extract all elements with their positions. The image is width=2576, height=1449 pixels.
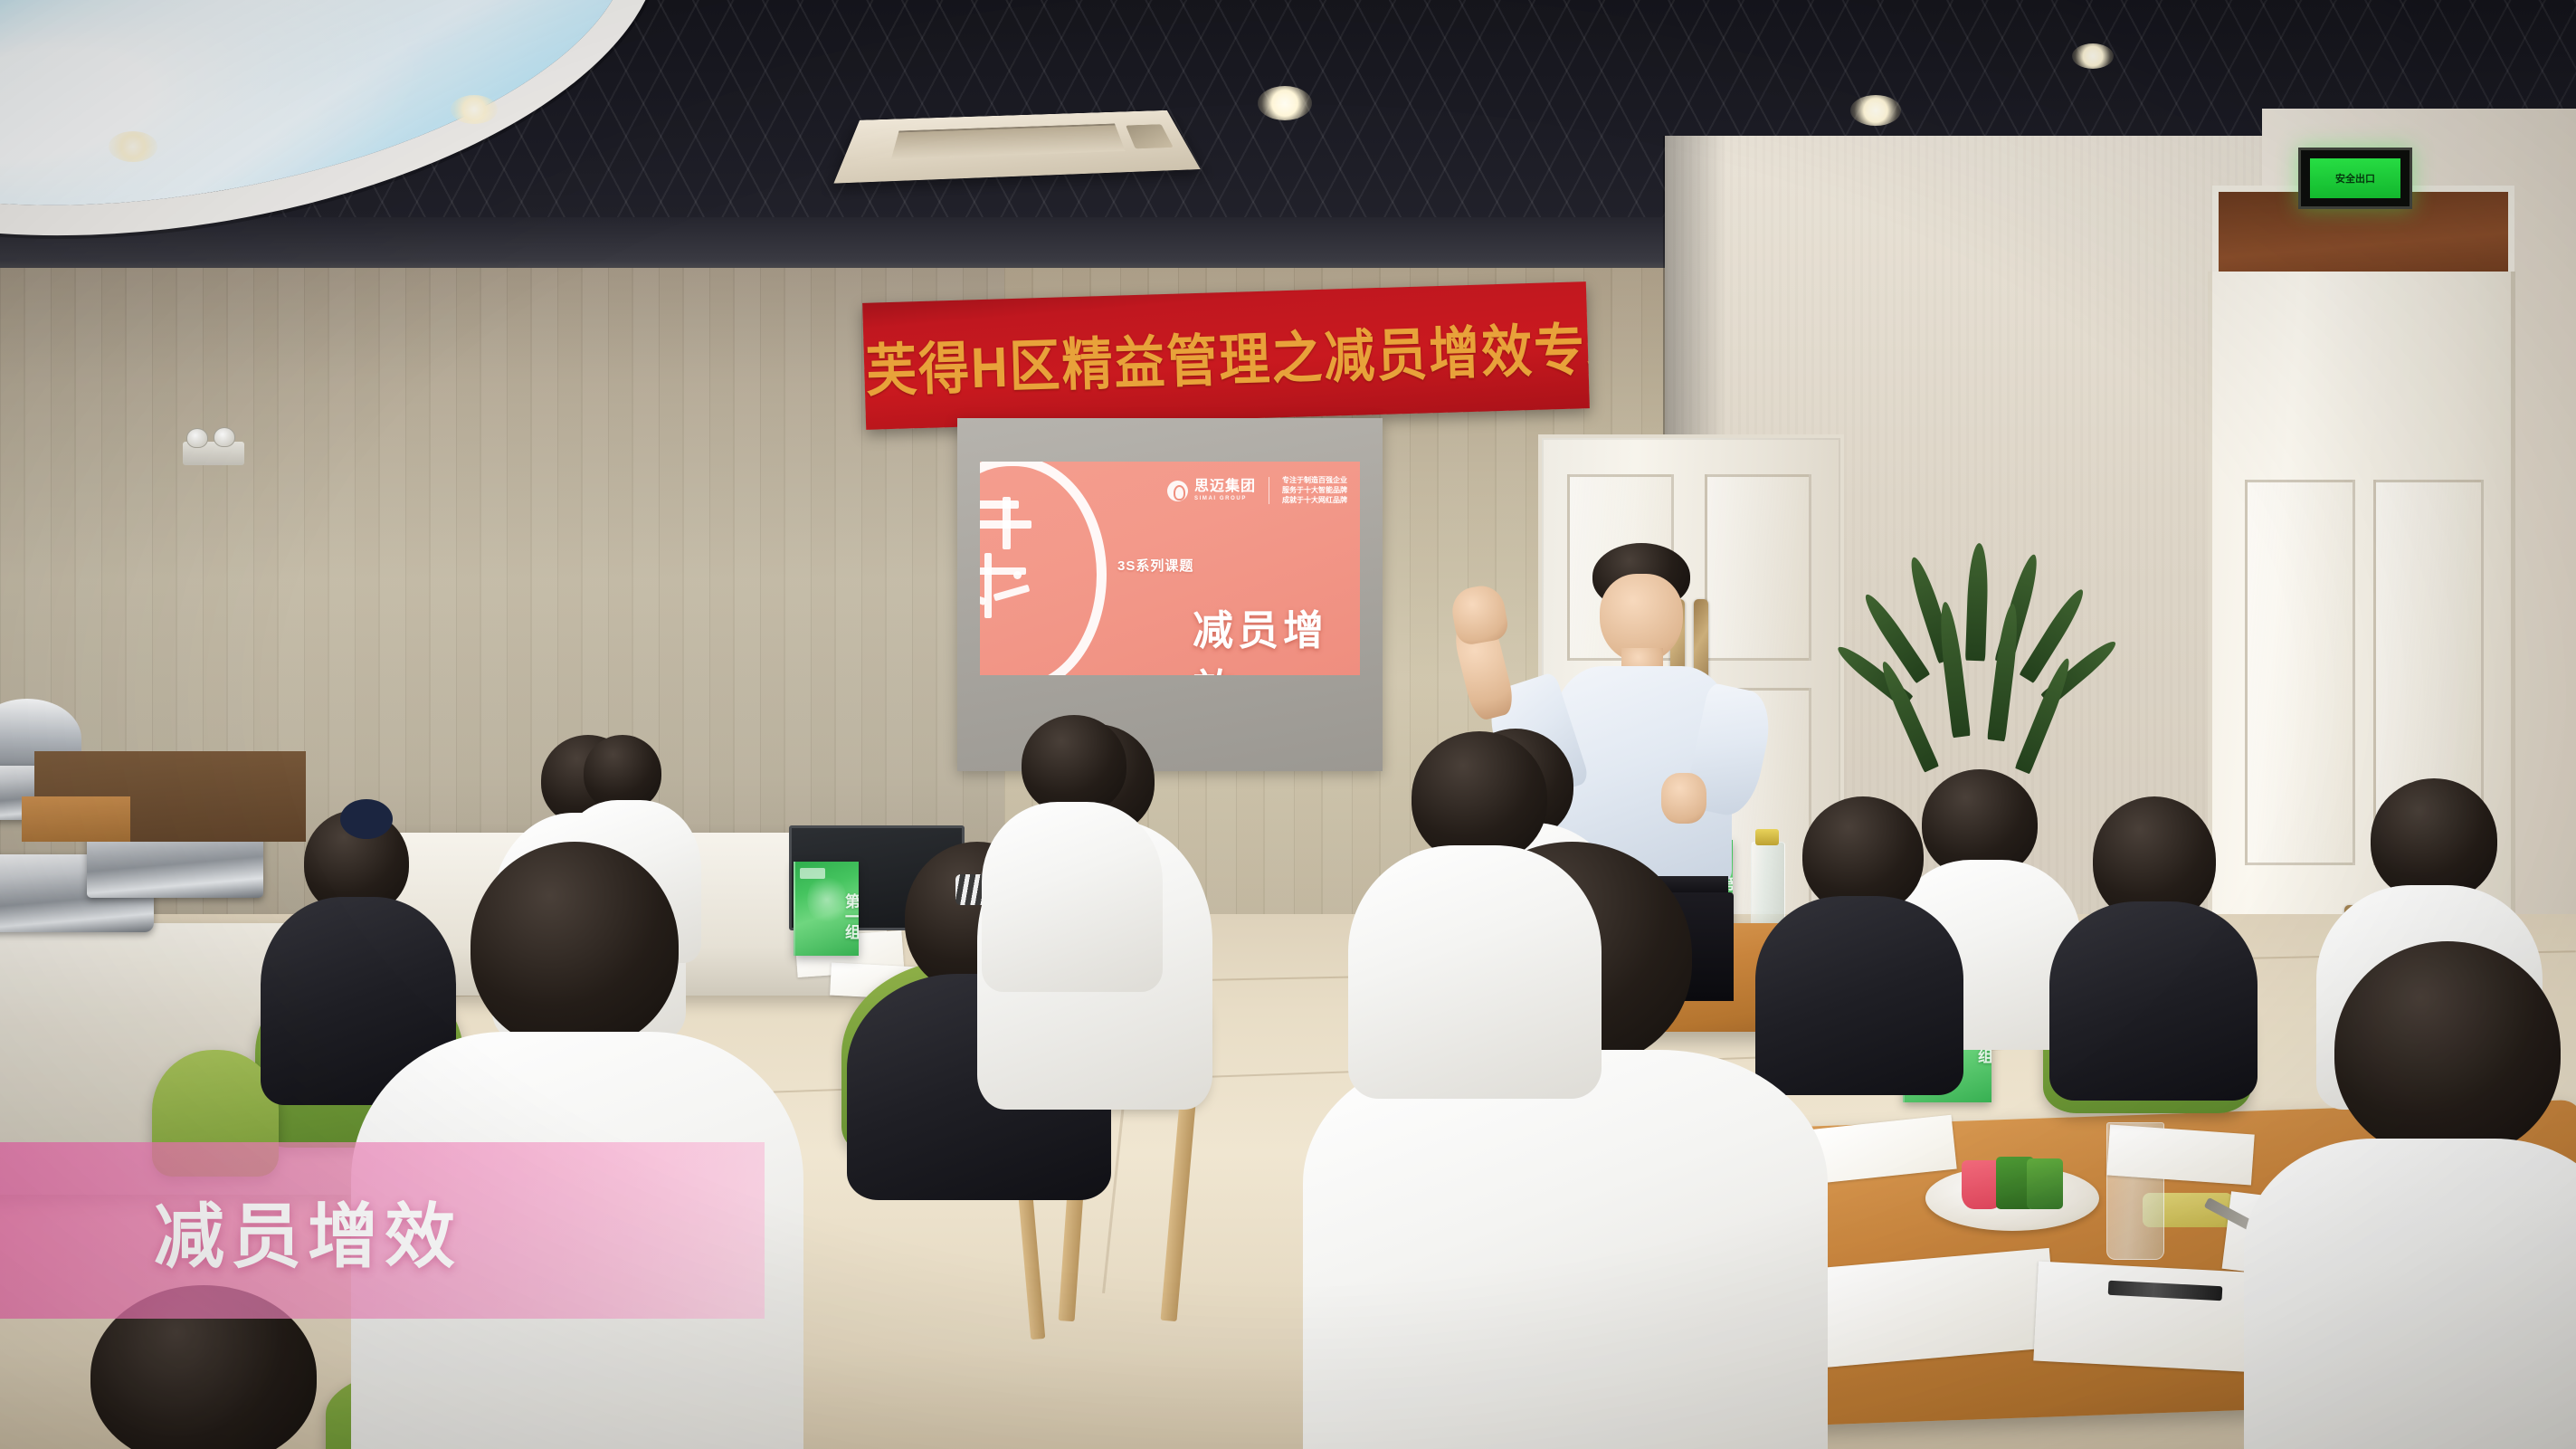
attendee-shirt xyxy=(2244,1139,2576,1449)
emergency-light-head xyxy=(214,427,235,447)
slide-brand-logo: 思迈集团 SIMAI GROUP 专注于制造百强企业 服务于十大智能品牌 成就于… xyxy=(1167,476,1347,505)
attendee xyxy=(2049,796,2258,1095)
ac-grille xyxy=(891,124,1126,160)
overlay-title: 减员增效 xyxy=(154,1180,461,1282)
brand-tagline: 成就于十大网红品牌 xyxy=(1282,496,1347,505)
buffet-shelf xyxy=(22,796,130,842)
brand-name-en: SIMAI GROUP xyxy=(1194,496,1256,501)
exit-sign-label: 安全出口 xyxy=(2335,171,2375,186)
ceiling-downlight xyxy=(451,95,498,124)
attendee-foreground xyxy=(1339,731,1611,1093)
presenter-hand-left xyxy=(1661,773,1706,824)
attendee-hair xyxy=(1022,715,1126,815)
exit-sign-glyph-icon: 安全出口 xyxy=(2310,158,2400,198)
attendee xyxy=(982,715,1163,987)
attendee-hair xyxy=(1412,731,1547,863)
event-banner-text: 安徽优芙得H区精益管理之减员增效专场培训 xyxy=(862,300,1590,413)
brand-divider xyxy=(1269,477,1269,504)
emergency-light xyxy=(183,442,244,465)
brand-mark-icon xyxy=(1167,481,1188,501)
ceiling-downlight xyxy=(1258,86,1312,120)
paper-sheet xyxy=(1815,1248,2058,1368)
ac-side-vent xyxy=(1126,124,1174,148)
attendee-hair xyxy=(2334,941,2561,1158)
photo-scene: 安徽优芙得H区精益管理之减员增效专场培训 思迈集团 SIMAI GROUP 专注… xyxy=(0,0,2576,1449)
presentation-slide: 思迈集团 SIMAI GROUP 专注于制造百强企业 服务于十大智能品牌 成就于… xyxy=(980,462,1360,675)
ceiling-downlight xyxy=(1850,95,1901,126)
attendee-hair xyxy=(471,842,679,1050)
ceiling-downlight xyxy=(2072,43,2114,69)
emergency-exit-sign: 安全出口 xyxy=(2298,148,2412,209)
attendee-top xyxy=(2049,901,2258,1101)
slide-title: 减员增效 xyxy=(1193,597,1360,675)
attendee-hair xyxy=(2371,778,2497,901)
brand-tagline: 服务于十大智能品牌 xyxy=(1282,486,1347,495)
attendee-hair-bun xyxy=(340,799,393,839)
attendee-shirt xyxy=(982,802,1163,992)
attendee-shirt xyxy=(1303,1050,1828,1449)
ceiling-downlight xyxy=(109,131,157,162)
emergency-light-head xyxy=(186,428,208,448)
brand-tagline: 专注于制造百强企业 xyxy=(1282,476,1347,485)
watermelon-slice xyxy=(2027,1158,2063,1209)
event-banner: 安徽优芙得H区精益管理之减员增效专场培训 xyxy=(862,281,1590,430)
slide-seal-logo-icon xyxy=(980,462,1107,675)
attendee-shirt xyxy=(1348,845,1602,1099)
video-overlay-banner: 减员增效 xyxy=(0,1142,765,1319)
paper-sheet xyxy=(2033,1262,2264,1373)
attendee-foreground xyxy=(2244,941,2576,1449)
brand-name-cn: 思迈集团 xyxy=(1194,480,1256,494)
slide-subtitle: 3S系列课题 xyxy=(1117,556,1193,575)
paper-sheet xyxy=(2106,1124,2255,1185)
